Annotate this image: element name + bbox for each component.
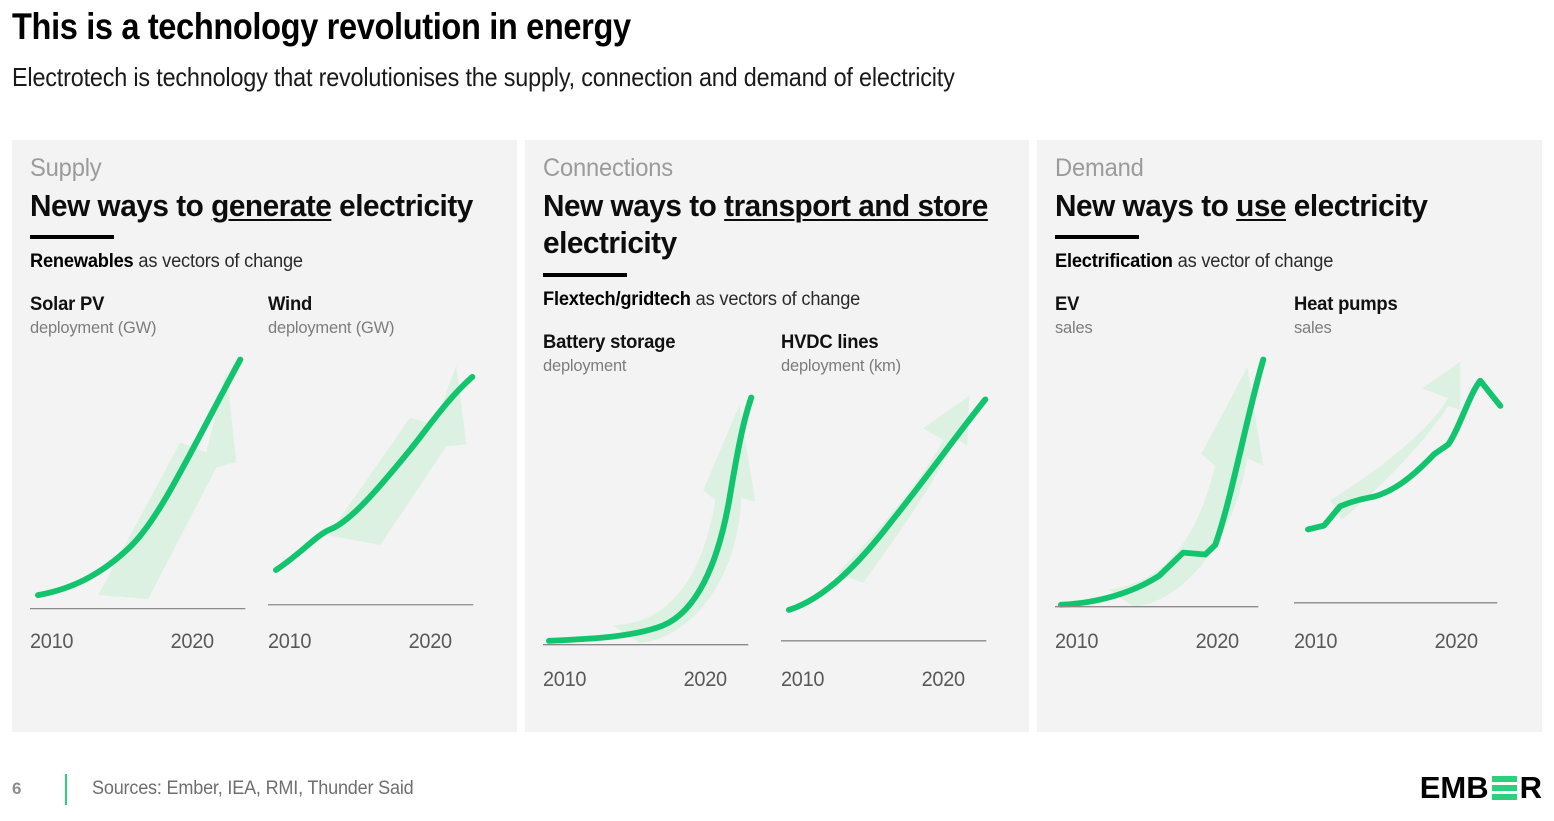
solar-pv-svg <box>30 346 260 626</box>
hvdc-svg <box>781 384 1011 664</box>
chart-ev: EV sales 2010 2020 <box>1055 294 1285 654</box>
x-tick-start: 2010 <box>268 630 311 654</box>
chart-solar-pv: Solar PV deployment (GW) 2010 2020 <box>30 294 260 654</box>
heading-pre: New ways to <box>543 188 724 223</box>
heading-post: electricity <box>331 188 472 223</box>
wind-svg <box>268 346 498 626</box>
chart-title: EV <box>1055 294 1278 316</box>
x-tick-end: 2020 <box>683 668 726 692</box>
heading-keyword: generate <box>211 188 331 223</box>
x-axis-labels: 2010 2020 <box>1055 630 1274 654</box>
chart-heat-pumps: Heat pumps sales 2010 2020 <box>1294 294 1524 654</box>
ember-logo: EMB R <box>1420 772 1542 804</box>
chart-title: Wind <box>268 294 491 316</box>
x-tick-start: 2010 <box>30 630 73 654</box>
page-title: This is a technology revolution in energ… <box>12 6 631 48</box>
arrow-watermark <box>1109 368 1263 607</box>
category-label: Supply <box>30 154 475 184</box>
vectors-rest: as vector of change <box>1173 251 1333 272</box>
x-tick-end: 2020 <box>1196 630 1239 654</box>
chart-plot-area <box>268 346 498 626</box>
slide: This is a technology revolution in energ… <box>0 0 1554 821</box>
chart-row: Battery storage deployment 2010 2020 <box>543 332 1012 692</box>
page-number: 6 <box>12 779 21 799</box>
x-tick-end: 2020 <box>922 668 965 692</box>
chart-plot-area <box>1294 346 1524 626</box>
chart-plot-area <box>543 384 773 664</box>
page-subtitle: Electrotech is technology that revolutio… <box>12 62 955 93</box>
x-tick-start: 2010 <box>543 668 586 692</box>
footer-divider <box>65 774 67 805</box>
chart-subtitle: deployment (km) <box>781 356 1004 376</box>
x-axis-labels: 2010 2020 <box>543 668 762 692</box>
chart-subtitle: deployment <box>543 356 766 376</box>
category-label: Connections <box>543 154 988 184</box>
chart-wind: Wind deployment (GW) 2010 2020 <box>268 294 498 654</box>
panel-heading: New ways to use electricity <box>1055 187 1505 225</box>
heading-rule <box>1055 235 1139 239</box>
panel-heading: New ways to generate electricity <box>30 187 480 225</box>
chart-plot-area <box>30 346 260 626</box>
chart-plot-area <box>781 384 1011 664</box>
chart-row: EV sales 2010 2020 Hea <box>1055 294 1524 654</box>
chart-subtitle: deployment (GW) <box>30 318 253 338</box>
logo-e-bars-icon <box>1492 776 1517 800</box>
chart-subtitle: deployment (GW) <box>268 318 491 338</box>
vectors-rest: as vectors of change <box>690 289 859 310</box>
x-tick-end: 2020 <box>409 630 452 654</box>
chart-subtitle: sales <box>1055 318 1278 338</box>
heading-keyword: transport and store <box>724 188 988 223</box>
chart-title: Heat pumps <box>1294 294 1517 316</box>
heading-rule <box>30 235 114 239</box>
panel-container: Supply New ways to generate electricity … <box>12 140 1542 732</box>
chart-battery-storage: Battery storage deployment 2010 2020 <box>543 332 773 692</box>
vectors-bold: Electrification <box>1055 251 1173 272</box>
chart-title: Battery storage <box>543 332 766 354</box>
vectors-rest: as vectors of change <box>134 251 303 272</box>
x-tick-start: 2010 <box>1294 630 1337 654</box>
panel-supply: Supply New ways to generate electricity … <box>12 140 517 732</box>
heatpump-svg <box>1294 346 1524 626</box>
battery-svg <box>543 384 773 664</box>
heading-rule <box>543 273 627 277</box>
chart-hvdc-lines: HVDC lines deployment (km) 2010 2020 <box>781 332 1011 692</box>
vectors-line: Electrification as vector of change <box>1055 251 1505 274</box>
x-axis-labels: 2010 2020 <box>30 630 249 654</box>
footer: 6 Sources: Ember, IEA, RMI, Thunder Said… <box>0 762 1554 821</box>
x-axis-labels: 2010 2020 <box>781 668 1000 692</box>
arrow-watermark <box>837 396 969 583</box>
vectors-bold: Flextech/gridtech <box>543 289 691 310</box>
chart-row: Solar PV deployment (GW) 2010 2020 <box>30 294 499 654</box>
sources-text: Sources: Ember, IEA, RMI, Thunder Said <box>92 778 414 800</box>
heading-pre: New ways to <box>1055 188 1236 223</box>
panel-connections: Connections New ways to transport and st… <box>525 140 1030 732</box>
heading-keyword: use <box>1236 188 1286 223</box>
chart-plot-area <box>1055 346 1285 626</box>
x-tick-end: 2020 <box>171 630 214 654</box>
vectors-bold: Renewables <box>30 251 134 272</box>
x-tick-start: 2010 <box>1055 630 1098 654</box>
x-tick-start: 2010 <box>781 668 824 692</box>
chart-title: HVDC lines <box>781 332 1004 354</box>
logo-text-right: R <box>1520 770 1542 806</box>
heading-post: electricity <box>1286 188 1427 223</box>
x-tick-end: 2020 <box>1434 630 1477 654</box>
x-axis-labels: 2010 2020 <box>1294 630 1513 654</box>
ev-svg <box>1055 346 1285 626</box>
panel-demand: Demand New ways to use electricity Elect… <box>1037 140 1542 732</box>
chart-title: Solar PV <box>30 294 253 316</box>
panel-heading: New ways to transport and store electric… <box>543 187 993 263</box>
vectors-line: Flextech/gridtech as vectors of change <box>543 289 993 312</box>
vectors-line: Renewables as vectors of change <box>30 251 480 274</box>
logo-text-left: EMB <box>1420 770 1489 806</box>
category-label: Demand <box>1055 154 1500 184</box>
x-axis-labels: 2010 2020 <box>268 630 487 654</box>
arrow-watermark <box>1330 362 1460 520</box>
heading-pre: New ways to <box>30 188 211 223</box>
chart-subtitle: sales <box>1294 318 1517 338</box>
heading-post: electricity <box>543 225 677 260</box>
